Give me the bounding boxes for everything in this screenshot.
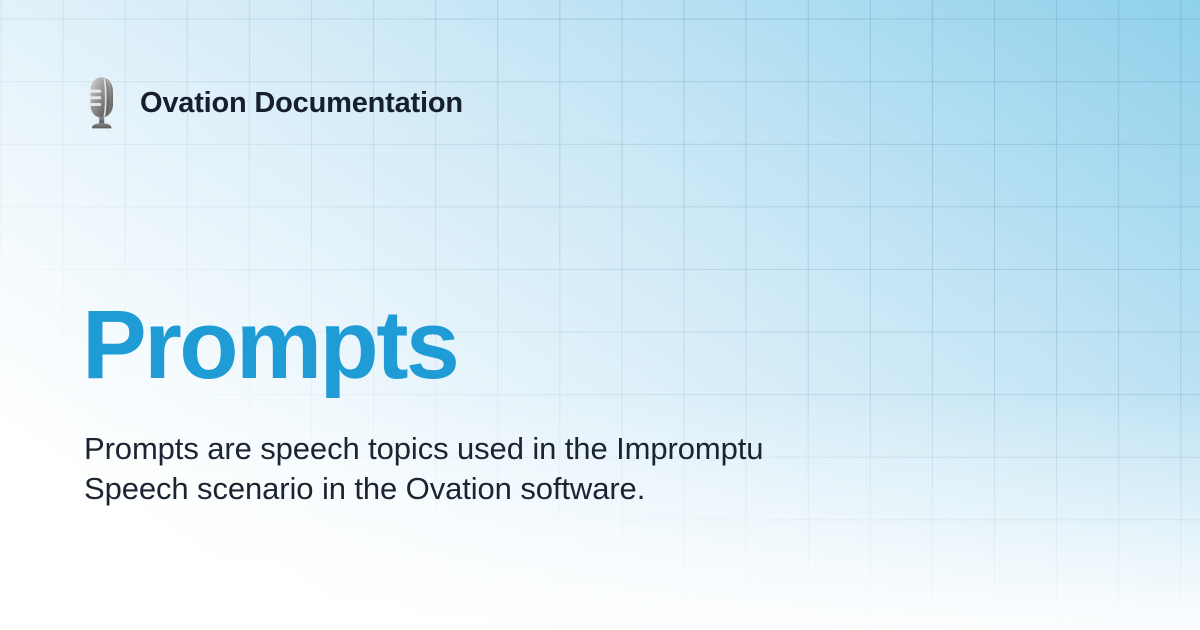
- vintage-microphone-icon: [84, 76, 122, 130]
- og-card: Ovation Documentation Prompts Prompts ar…: [0, 0, 1200, 630]
- brand-header: Ovation Documentation: [84, 76, 463, 130]
- page-title: Prompts: [82, 296, 457, 393]
- brand-name: Ovation Documentation: [140, 89, 463, 118]
- card-content: Ovation Documentation Prompts Prompts ar…: [0, 0, 1200, 630]
- page-description: Prompts are speech topics used in the Im…: [84, 429, 784, 510]
